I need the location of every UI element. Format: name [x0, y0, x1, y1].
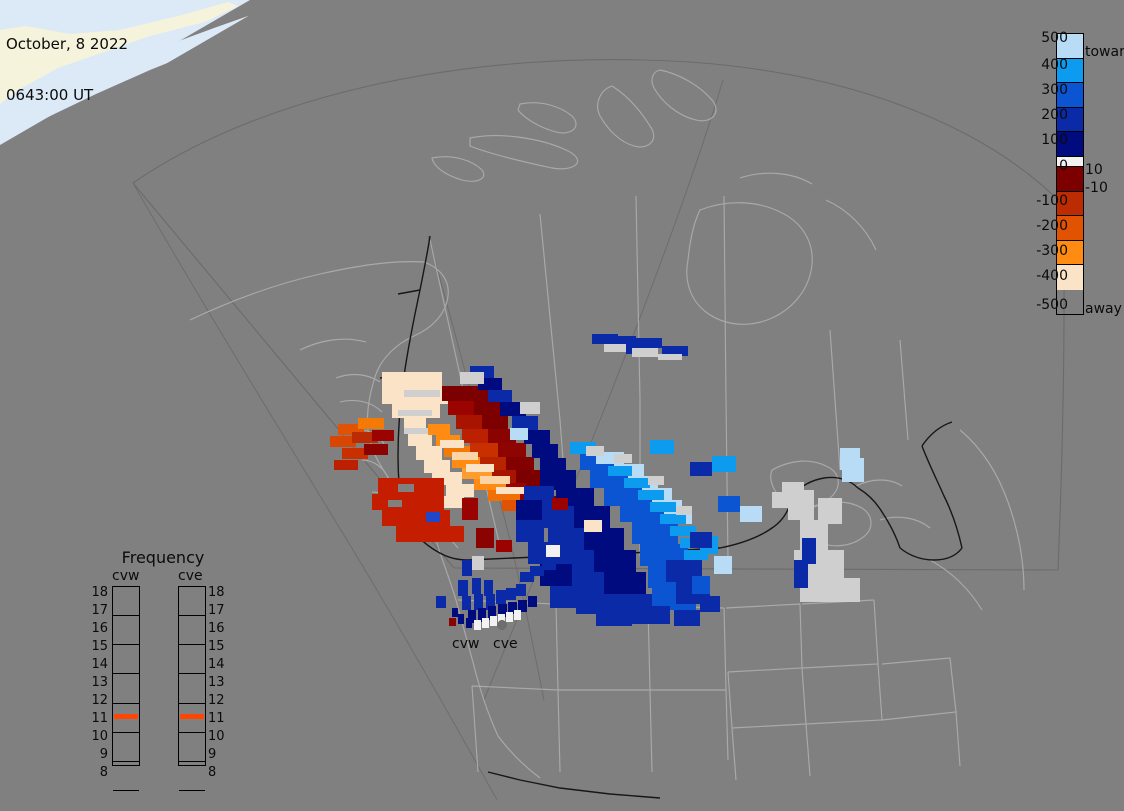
frequency-cell — [179, 762, 205, 791]
colorbar-tick: 500 — [1008, 31, 1068, 45]
frequency-cell — [179, 587, 205, 616]
frequency-tick: 9 — [208, 748, 232, 761]
frequency-bar-cve — [178, 586, 206, 766]
colorbar-tick: 300 — [1008, 83, 1068, 97]
frequency-cell — [113, 762, 139, 791]
frequency-cell — [179, 733, 205, 762]
frequency-tick: 8 — [84, 766, 108, 779]
frequency-tick: 12 — [208, 694, 232, 707]
frequency-column-label-cvw: cvw — [112, 568, 139, 584]
colorbar-tick: 400 — [1008, 58, 1068, 72]
colorbar-tick: 200 — [1008, 108, 1068, 122]
frequency-cell — [179, 791, 205, 811]
frequency-bar-cvw — [112, 586, 140, 766]
frequency-tick: 13 — [84, 676, 108, 689]
frequency-tick: 8 — [208, 766, 232, 779]
frequency-tick: 10 — [208, 730, 232, 743]
colorbar-tick: -300 — [1008, 244, 1068, 258]
frequency-tick: 15 — [84, 640, 108, 653]
frequency-legend-title: Frequency — [88, 548, 238, 567]
colorbar-upper-threshold-label: 10 — [1085, 163, 1103, 177]
map-canvas: October, 8 2022 0643:00 UT Velocity (m/s… — [0, 0, 1124, 811]
radar-site-marker — [497, 620, 507, 630]
frequency-legend: Frequency cvw cve — [88, 548, 238, 783]
colorbar-tick: -400 — [1008, 269, 1068, 283]
frequency-cell — [179, 616, 205, 645]
frequency-cell — [113, 791, 139, 811]
colorbar-lower-threshold-label: -10 — [1085, 181, 1108, 195]
colorbar-away-label: away — [1085, 302, 1122, 316]
frequency-cell — [179, 645, 205, 674]
frequency-tick: 17 — [208, 604, 232, 617]
timestamp: October, 8 2022 0643:00 UT — [6, 2, 128, 138]
frequency-tick: 10 — [84, 730, 108, 743]
timestamp-time: 0643:00 UT — [6, 87, 128, 104]
frequency-cell — [179, 674, 205, 703]
frequency-tick: 11 — [84, 712, 108, 725]
frequency-cell — [113, 733, 139, 762]
frequency-tick: 18 — [84, 586, 108, 599]
frequency-tick: 15 — [208, 640, 232, 653]
frequency-tick: 18 — [208, 586, 232, 599]
frequency-tick: 16 — [84, 622, 108, 635]
frequency-tick: 14 — [84, 658, 108, 671]
colorbar-tick: -500 — [1008, 298, 1068, 312]
frequency-column-label-cve: cve — [178, 568, 203, 584]
frequency-tick: 13 — [208, 676, 232, 689]
frequency-tick: 11 — [208, 712, 232, 725]
velocity-colorbar: 500 400 300 200 100 0 -100 -200 -300 -40… — [1000, 0, 1124, 330]
frequency-marker-cvw — [114, 714, 138, 719]
frequency-tick: 16 — [208, 622, 232, 635]
frequency-cell — [113, 645, 139, 674]
frequency-tick: 9 — [84, 748, 108, 761]
frequency-cell — [113, 616, 139, 645]
colorbar-tick: 100 — [1008, 133, 1068, 147]
colorbar-toward-label: toward — [1085, 45, 1124, 59]
frequency-marker-cve — [180, 714, 204, 719]
frequency-tick: 12 — [84, 694, 108, 707]
timestamp-date: October, 8 2022 — [6, 36, 128, 53]
colorbar-tick: -100 — [1008, 194, 1068, 208]
frequency-cell — [113, 674, 139, 703]
frequency-tick: 17 — [84, 604, 108, 617]
frequency-tick: 14 — [208, 658, 232, 671]
colorbar-tick: 0 — [1008, 159, 1068, 173]
colorbar-tick: -200 — [1008, 219, 1068, 233]
radar-site-label-cve: cve — [493, 636, 518, 652]
frequency-cell — [113, 587, 139, 616]
radar-site-label-cvw: cvw — [452, 636, 479, 652]
